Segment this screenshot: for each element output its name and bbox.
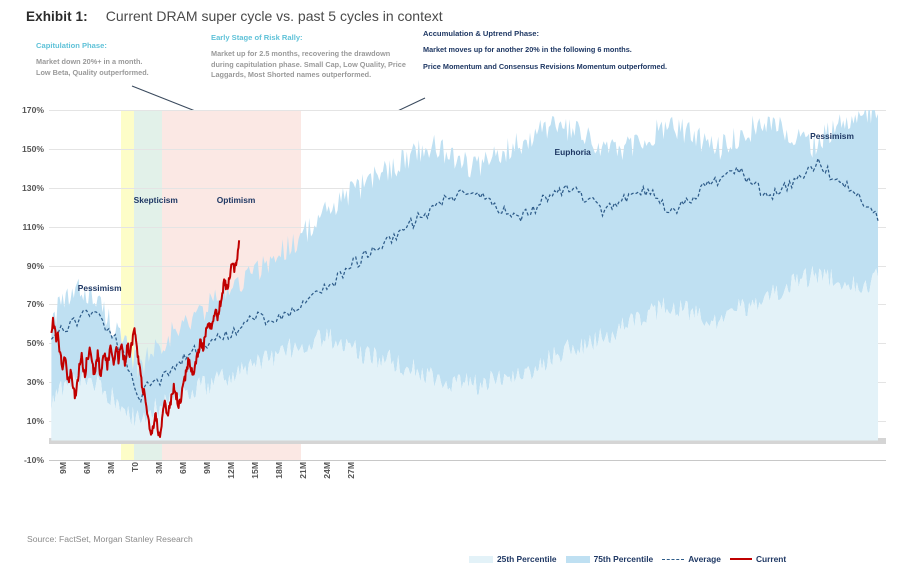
legend-swatch xyxy=(662,559,684,560)
legend-item-average[interactable]: Average xyxy=(662,554,721,564)
chart-label-skepticism-1: Skepticism xyxy=(134,195,178,205)
series-layer xyxy=(49,110,886,460)
x-axis-tick-label: 12M xyxy=(226,462,236,479)
x-axis-tick-label: 24M xyxy=(322,462,332,479)
chart-legend: 25th Percentile75th PercentileAverageCur… xyxy=(465,550,825,568)
annotation-heading: Early Stage of Risk Rally: xyxy=(211,33,411,42)
annotation-accumulation-uptrend-phase: Accumulation & Uptrend Phase: Market mov… xyxy=(423,29,688,72)
x-axis-tick-label: 6M xyxy=(82,462,92,474)
legend-label: Current xyxy=(756,554,786,564)
annotation-body: Market up for 2.5 months, recovering the… xyxy=(211,49,411,80)
exhibit-header: Exhibit 1: Current DRAM super cycle vs. … xyxy=(26,4,886,28)
chart-label-optimism-2: Optimism xyxy=(217,195,256,205)
x-axis-tick-label: 18M xyxy=(274,462,284,479)
x-axis-tick-label: 15M xyxy=(250,462,260,479)
x-axis-tick-label: 21M xyxy=(298,462,308,479)
legend-label: 25th Percentile xyxy=(497,554,557,564)
legend-item-current[interactable]: Current xyxy=(730,554,786,564)
legend-swatch xyxy=(469,556,493,563)
y-axis-tick-label: -10% xyxy=(24,455,44,465)
x-axis-tick-label: 9M xyxy=(58,462,68,474)
x-axis-tick-label: 9M xyxy=(202,462,212,474)
chart-area: 170%150%130%110%90%70%50%30%10%-10% Pess… xyxy=(0,110,902,475)
x-axis: 9M6M3MT03M6M9M12M15M18M21M24M27M xyxy=(49,462,886,502)
annotation-early-stage-risk-rally: Early Stage of Risk Rally: Market up for… xyxy=(211,33,411,81)
x-axis-tick-label: 3M xyxy=(154,462,164,474)
legend-swatch xyxy=(566,556,590,563)
legend-item-75th-percentile[interactable]: 75th Percentile xyxy=(566,554,654,564)
y-axis-tick-label: 70% xyxy=(27,299,44,309)
exhibit-number: Exhibit 1: xyxy=(26,9,88,24)
y-axis-tick-label: 170% xyxy=(22,105,44,115)
y-axis-tick-label: 110% xyxy=(22,222,44,232)
x-axis-tick-label: 3M xyxy=(106,462,116,474)
x-axis-tick-label: 6M xyxy=(178,462,188,474)
x-axis-tick-label: T0 xyxy=(130,462,140,472)
y-axis-tick-label: 90% xyxy=(27,261,44,271)
annotation-body: Market moves up for another 20% in the f… xyxy=(423,45,688,72)
annotation-heading: Accumulation & Uptrend Phase: xyxy=(423,29,688,38)
y-axis: 170%150%130%110%90%70%50%30%10%-10% xyxy=(0,110,48,460)
legend-label: Average xyxy=(688,554,721,564)
chart-label-euphoria-3: Euphoria xyxy=(555,147,591,157)
annotation-body: Market down 20%+ in a month. Low Beta, Q… xyxy=(36,57,201,78)
source-note: Source: FactSet, Morgan Stanley Research xyxy=(27,534,193,544)
legend-label: 75th Percentile xyxy=(594,554,654,564)
chart-label-pessimism-4: Pessimism xyxy=(810,131,854,141)
y-axis-tick-label: 130% xyxy=(22,183,44,193)
x-axis-tick-label: 27M xyxy=(346,462,356,479)
y-axis-tick-label: 30% xyxy=(27,377,44,387)
legend-swatch xyxy=(730,558,752,560)
annotation-capitulation-phase: Capitulation Phase: Market down 20%+ in … xyxy=(36,41,201,78)
plot-canvas: PessimismSkepticismOptimismEuphoriaPessi… xyxy=(49,110,886,460)
y-axis-tick-label: 10% xyxy=(27,416,44,426)
y-axis-tick-label: 50% xyxy=(27,338,44,348)
y-axis-tick-label: 150% xyxy=(22,144,44,154)
page-title: Current DRAM super cycle vs. past 5 cycl… xyxy=(106,8,443,24)
annotation-heading: Capitulation Phase: xyxy=(36,41,201,50)
chart-label-pessimism-0: Pessimism xyxy=(78,283,122,293)
legend-item-25th-percentile[interactable]: 25th Percentile xyxy=(469,554,557,564)
x-axis-line xyxy=(49,460,886,461)
